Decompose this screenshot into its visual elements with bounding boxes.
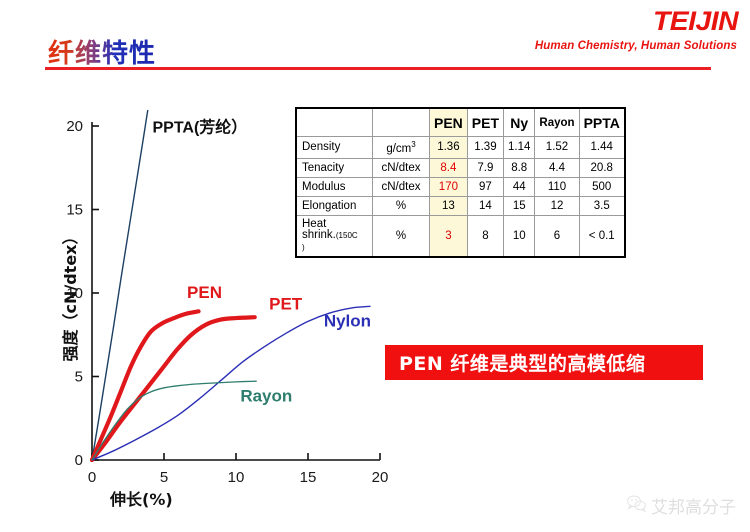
table-row: TenacitycN/dtex8.47.98.84.420.8 (296, 158, 625, 177)
cell-property: Density (296, 137, 373, 159)
x-axis-title: 伸长(%) (110, 486, 173, 510)
header-col-pen: PEN (430, 108, 468, 137)
cell-unit: cN/dtex (373, 158, 430, 177)
y-tick-label: 20 (66, 118, 83, 135)
cell-unit: % (373, 215, 430, 257)
cell-ny: 1.14 (504, 137, 535, 159)
cell-ppta: 500 (579, 177, 625, 196)
cell-rayon: 1.52 (535, 137, 579, 159)
y-tick-label: 0 (75, 452, 83, 469)
cell-ny: 8.8 (504, 158, 535, 177)
x-tick-label: 10 (228, 469, 245, 486)
cell-ny: 44 (504, 177, 535, 196)
curve-ppta芳纶 (92, 108, 148, 460)
header-col-rayon: Rayon (535, 108, 579, 137)
page-title: 纤维特性 (48, 33, 156, 70)
cell-pet: 97 (467, 177, 503, 196)
table-row: Densityg/cm31.361.391.141.521.44 (296, 137, 625, 159)
cell-unit: g/cm3 (373, 137, 430, 159)
table-row: Elongation%131415123.5 (296, 196, 625, 215)
cell-rayon: 4.4 (535, 158, 579, 177)
cell-ppta: 1.44 (579, 137, 625, 159)
curve-rayon (92, 381, 256, 460)
cell-rayon: 12 (535, 196, 579, 215)
callout-text: PEN 纤维是典型的高模低缩 (399, 349, 645, 376)
wechat-watermark: 艾邦高分子 (627, 493, 736, 518)
cell-pet: 8 (467, 215, 503, 257)
header-col-ppta: PPTA (579, 108, 625, 137)
x-tick-label: 15 (300, 469, 317, 486)
cell-property: Elongation (296, 196, 373, 215)
watermark-text: 艾邦高分子 (651, 493, 736, 518)
curve-pet (92, 317, 255, 460)
cell-rayon: 6 (535, 215, 579, 257)
title-underline-rule (45, 67, 711, 70)
x-tick-label: 5 (160, 469, 168, 486)
header-blank-property (296, 108, 373, 137)
table-header: PEN PET Ny Rayon PPTA (296, 108, 625, 137)
table-row: ModuluscN/dtex1709744110500 (296, 177, 625, 196)
header-blank-unit (373, 108, 430, 137)
cell-pen: 13 (430, 196, 468, 215)
cell-pen: 3 (430, 215, 468, 257)
cell-ny: 15 (504, 196, 535, 215)
cell-pet: 1.39 (467, 137, 503, 159)
cell-ppta: < 0.1 (579, 215, 625, 257)
curve-label-nylon: Nylon (324, 311, 371, 330)
cell-pen: 8.4 (430, 158, 468, 177)
cell-rayon: 110 (535, 177, 579, 196)
cell-ppta: 20.8 (579, 158, 625, 177)
table-row: Heatshrink.(150C)%38106< 0.1 (296, 215, 625, 257)
cell-unit: % (373, 196, 430, 215)
table-body: Densityg/cm31.361.391.141.521.44Tenacity… (296, 137, 625, 258)
cell-pet: 7.9 (467, 158, 503, 177)
cell-ny: 10 (504, 215, 535, 257)
slide-root: TEIJIN Human Chemistry, Human Solutions … (0, 0, 750, 532)
table-header-row: PEN PET Ny Rayon PPTA (296, 108, 625, 137)
pen-highlight-callout: PEN 纤维是典型的高模低缩 (385, 345, 703, 380)
cell-property: Heatshrink.(150C) (296, 215, 373, 257)
curve-label-ppta芳纶: PPTA(芳纶） (152, 118, 247, 137)
cell-unit: cN/dtex (373, 177, 430, 196)
fiber-properties-table: PEN PET Ny Rayon PPTA Densityg/cm31.361.… (295, 107, 626, 258)
x-tick-label: 20 (372, 469, 389, 486)
brand-tagline: Human Chemistry, Human Solutions (535, 40, 737, 52)
cell-property: Tenacity (296, 158, 373, 177)
y-axis-title: 强度（cN/dtex） (57, 210, 81, 380)
wechat-icon (627, 495, 646, 517)
curve-label-pet: PET (269, 295, 303, 314)
curve-label-rayon: Rayon (240, 387, 292, 406)
x-tick-label: 0 (88, 469, 96, 486)
cell-property: Modulus (296, 177, 373, 196)
header-col-ny: Ny (504, 108, 535, 137)
curve-label-pen: PEN (187, 283, 222, 302)
header-col-pet: PET (467, 108, 503, 137)
cell-pen: 170 (430, 177, 468, 196)
cell-pen: 1.36 (430, 137, 468, 159)
cell-pet: 14 (467, 196, 503, 215)
teijin-logo: TEIJIN (653, 8, 738, 35)
cell-ppta: 3.5 (579, 196, 625, 215)
